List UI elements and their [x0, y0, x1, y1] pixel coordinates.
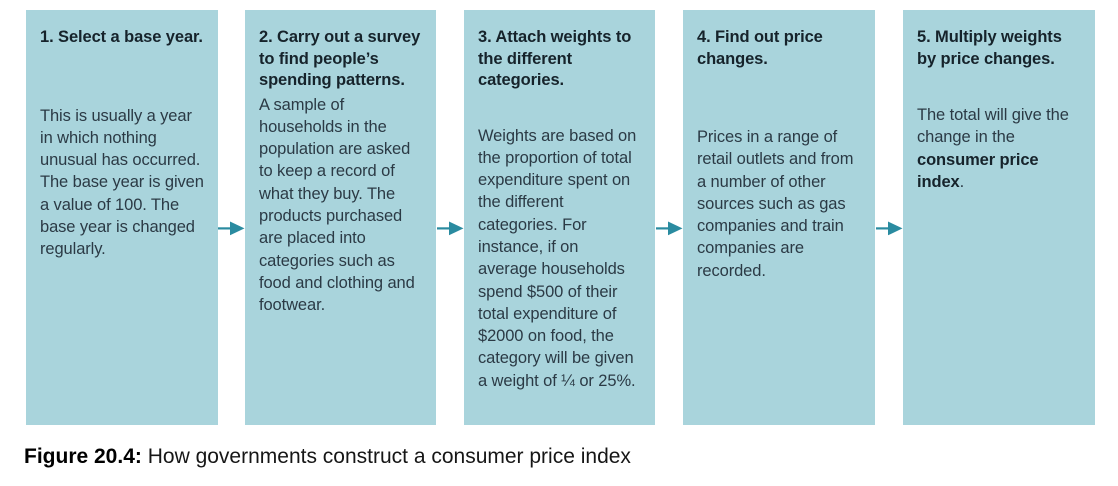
flow-step-4-title: 4. Find out price changes. — [697, 27, 861, 70]
flow-step-2-title: 2. Carry out a survey to find people’s s… — [259, 27, 422, 92]
flow-step-5-gap — [917, 70, 1081, 104]
flow-step-2: 2. Carry out a survey to find people’s s… — [245, 10, 436, 425]
flow-step-1-body: This is usually a year in which nothing … — [40, 105, 204, 261]
arrow-right-icon — [218, 220, 245, 237]
flow-step-2-body: A sample of households in the population… — [259, 94, 422, 317]
flow-step-1-title: 1. Select a base year. — [40, 27, 204, 49]
flow-step-3-title: 3. Attach weights to the different categ… — [478, 27, 641, 92]
arrow-right-icon — [876, 220, 903, 237]
flow-step-3: 3. Attach weights to the different categ… — [464, 10, 655, 425]
flow-step-5-body-lead: The total will give the change in the — [917, 106, 1069, 146]
flow-step-3-body: Weights are based on the proportion of t… — [478, 125, 641, 393]
figure-caption-text: How governments construct a consumer pri… — [148, 445, 631, 468]
flow-step-4-body: Prices in a range of retail outlets and … — [697, 126, 861, 282]
flow-step-5: 5. Multiply weights by price changes. Th… — [903, 10, 1095, 425]
flow-step-5-body-term: consumer price index — [917, 151, 1038, 191]
flow-step-5-title: 5. Multiply weights by price changes. — [917, 27, 1081, 70]
flow-step-4: 4. Find out price changes. Prices in a r… — [683, 10, 875, 425]
figure-flowchart: 1. Select a base year. This is usually a… — [0, 0, 1118, 486]
flow-step-3-gap — [478, 92, 641, 125]
figure-caption: Figure 20.4: How governments construct a… — [24, 443, 631, 471]
figure-caption-label: Figure 20.4: — [24, 445, 142, 468]
flow-step-1-gap — [40, 49, 204, 105]
arrow-right-icon — [656, 220, 683, 237]
arrow-right-icon — [437, 220, 464, 237]
flow-step-4-gap — [697, 70, 861, 126]
flow-step-5-body-tail: . — [960, 173, 964, 191]
flow-step-1: 1. Select a base year. This is usually a… — [26, 10, 218, 425]
flow-step-5-body: The total will give the change in the co… — [917, 104, 1081, 193]
